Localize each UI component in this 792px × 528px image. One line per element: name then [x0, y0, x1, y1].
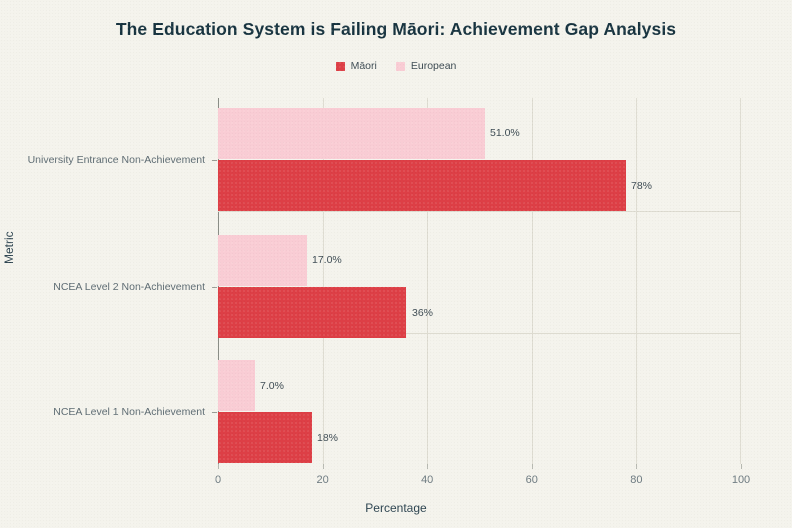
chart-legend: Māori European [0, 60, 792, 72]
x-tick-mark-60 [532, 464, 533, 469]
x-axis-label: Percentage [0, 501, 792, 515]
gridline-60 [532, 98, 533, 464]
legend-label-maori: Māori [351, 60, 377, 72]
bar-chart: The Education System is Failing Māori: A… [0, 0, 792, 528]
x-tick-label-20: 20 [316, 474, 328, 486]
y-tick-label-ncea-level-1: NCEA Level 1 Non-Achievement [53, 406, 205, 418]
gridline-100 [740, 98, 741, 464]
x-tick-mark-20 [323, 464, 324, 469]
y-tick-label-ncea-level-2: NCEA Level 2 Non-Achievement [53, 281, 205, 293]
legend-swatch-maori [336, 62, 345, 71]
y-tick-label-university-entrance: University Entrance Non-Achievement [28, 154, 205, 166]
legend-label-european: European [411, 60, 457, 72]
x-tick-label-0: 0 [215, 474, 221, 486]
x-tick-label-100: 100 [732, 474, 750, 486]
bar-maori-ncea-level-1[interactable] [218, 412, 312, 463]
chart-title: The Education System is Failing Māori: A… [0, 19, 792, 40]
x-tick-label-80: 80 [630, 474, 642, 486]
x-tick-mark-40 [427, 464, 428, 469]
bar-maori-ncea-level-2[interactable] [218, 287, 406, 338]
x-tick-mark-0 [218, 464, 219, 469]
row-separator-1 [218, 211, 741, 212]
bar-maori-university-entrance[interactable] [218, 160, 626, 211]
x-tick-label-60: 60 [526, 474, 538, 486]
value-label-european-ncea-level-1: 7.0% [260, 380, 284, 392]
y-axis-label: Metric [2, 231, 16, 264]
value-label-maori-ncea-level-2: 36% [412, 307, 433, 319]
legend-item-maori[interactable]: Māori [336, 60, 377, 72]
y-tick-mark-ncea-level-1 [212, 412, 217, 413]
x-tick-label-40: 40 [421, 474, 433, 486]
value-label-maori-ncea-level-1: 18% [317, 432, 338, 444]
plot-area: 51.0% 78% 17.0% 36% 7.0% 18% [218, 98, 741, 464]
bar-european-ncea-level-1[interactable] [218, 360, 255, 411]
x-tick-mark-100 [741, 464, 742, 469]
y-tick-mark-ncea-level-2 [212, 287, 217, 288]
legend-item-european[interactable]: European [396, 60, 457, 72]
gridline-80 [636, 98, 637, 464]
bar-european-ncea-level-2[interactable] [218, 235, 307, 286]
value-label-maori-university-entrance: 78% [631, 180, 652, 192]
y-tick-mark-university-entrance [212, 160, 217, 161]
x-tick-mark-80 [636, 464, 637, 469]
value-label-european-university-entrance: 51.0% [490, 127, 520, 139]
bar-european-university-entrance[interactable] [218, 108, 485, 159]
value-label-european-ncea-level-2: 17.0% [312, 254, 342, 266]
legend-swatch-european [396, 62, 405, 71]
